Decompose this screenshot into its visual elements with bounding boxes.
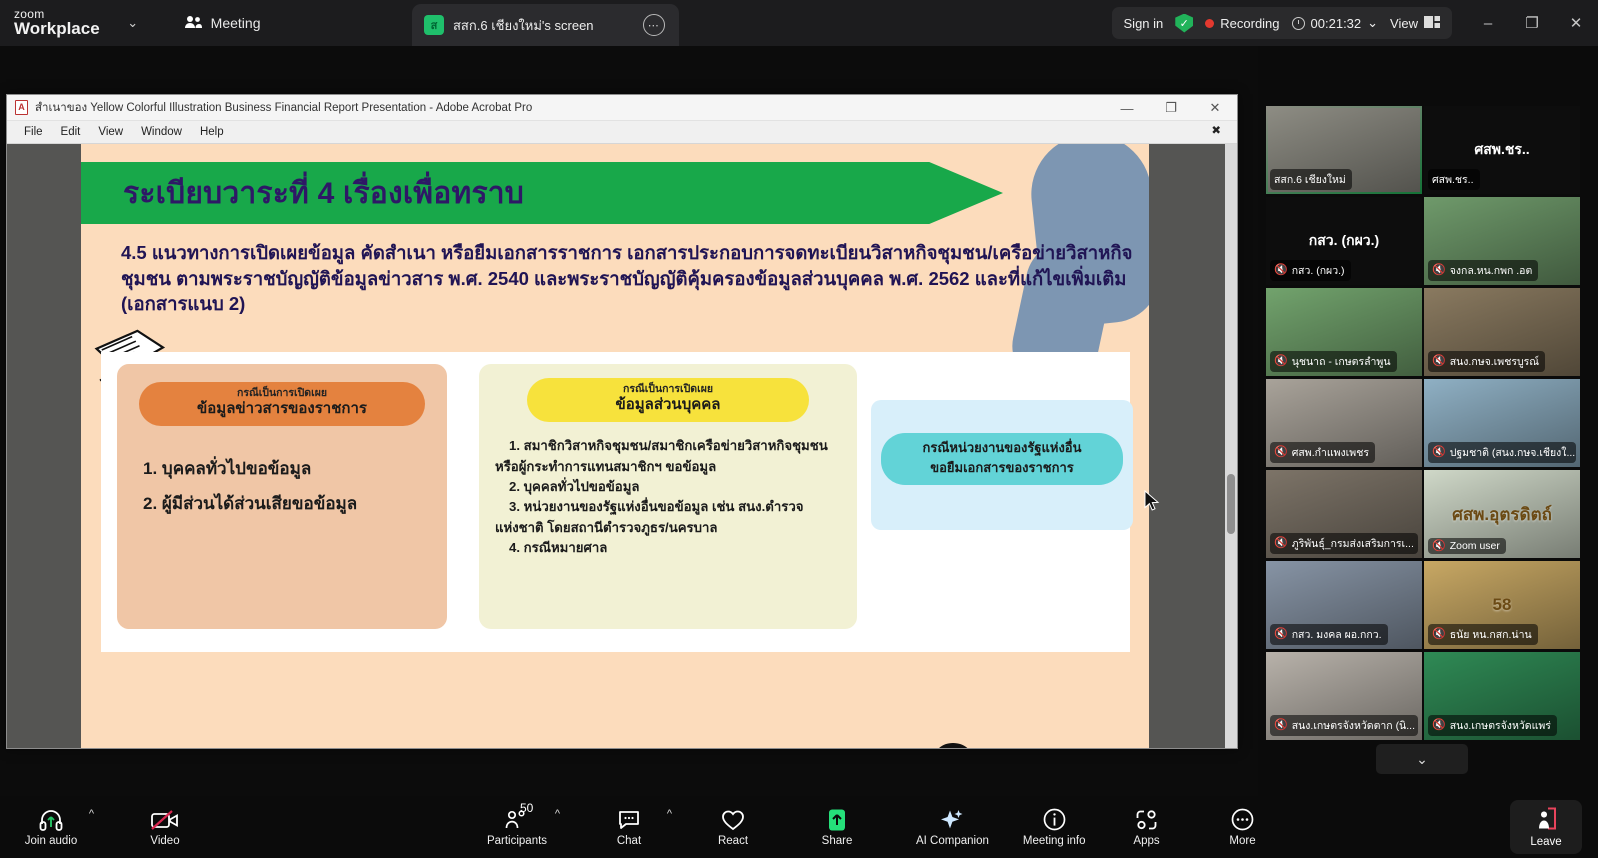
box-a-list: 1. บุคคลทั่วไปขอข้อมูล 2. ผู้มีส่วนได้ส่… bbox=[143, 452, 447, 522]
participant-name: จงกล.หน.กพก .อต bbox=[1450, 262, 1533, 279]
participant-name-badge: 🔇จงกล.หน.กพก .อต bbox=[1428, 260, 1538, 281]
toolbar-react[interactable]: React bbox=[702, 798, 764, 856]
acrobat-title-bar: A สำเนาของ Yellow Colorful Illustration … bbox=[7, 95, 1237, 121]
acrobat-minimize-button[interactable]: — bbox=[1105, 95, 1149, 121]
toolbar-meeting-info-label: Meeting info bbox=[1023, 835, 1086, 847]
toolbar-join-audio-label: Join audio bbox=[25, 835, 77, 847]
toolbar-share[interactable]: Share bbox=[806, 798, 868, 856]
pdf-scrollbar[interactable] bbox=[1225, 144, 1237, 748]
mic-muted-icon: 🔇 bbox=[1274, 356, 1288, 367]
participant-name-badge: 🔇สนง.เกษตรจังหวัดตาก (นิ... bbox=[1270, 715, 1418, 736]
acrobat-title: สำเนาของ Yellow Colorful Illustration Bu… bbox=[35, 99, 532, 117]
video-tile[interactable]: สสก.6 เชียงใหม่ bbox=[1266, 106, 1422, 194]
case-box-government-info: กรณีเป็นการเปิดเผย ข้อมูลข่าวสารของราชกา… bbox=[117, 364, 447, 629]
video-tile[interactable]: 🔇กสว. มงคล ผอ.กกว. bbox=[1266, 561, 1422, 649]
box-b-pill-big: ข้อมูลส่วนบุคคล bbox=[537, 396, 799, 414]
video-tile[interactable]: ศสพ.อุตรดิตถ์🔇Zoom user bbox=[1424, 470, 1580, 558]
participant-name-badge: 🔇สนง.กษจ.เพชรบูรณ์ bbox=[1428, 351, 1545, 372]
box-a-pill-small: กรณีเป็นการเปิดเผย bbox=[149, 387, 415, 400]
video-off-icon bbox=[150, 808, 180, 832]
clock-icon bbox=[1292, 17, 1305, 30]
participant-name-badge: 🔇ปฐมชาติ (สนง.กษจ.เชียงใ... bbox=[1428, 442, 1576, 463]
participant-name: ศสพ.ชร.. bbox=[1432, 171, 1474, 188]
shared-screen-tab[interactable]: ส สสก.6 เชียงใหม่'s screen ⋯ bbox=[412, 4, 679, 46]
apps-icon bbox=[1135, 808, 1158, 832]
leave-button-label: Leave bbox=[1530, 836, 1561, 848]
participant-name: สนง.กษจ.เพชรบูรณ์ bbox=[1450, 353, 1539, 370]
zoom-logo: zoom Workplace bbox=[14, 8, 100, 38]
chevron-down-icon[interactable]: ⌄ bbox=[122, 15, 144, 31]
participant-name: กสว. มงคล ผอ.กกว. bbox=[1292, 626, 1382, 643]
mic-muted-icon: 🔇 bbox=[1432, 720, 1446, 731]
box-c-line-1: กรณีหน่วยงานของรัฐแห่งอื่น bbox=[891, 438, 1113, 458]
timer-chevron-down-icon[interactable]: ⌄ bbox=[1367, 15, 1378, 31]
mic-muted-icon: 🔇 bbox=[1274, 538, 1288, 549]
recording-indicator[interactable]: Recording bbox=[1205, 16, 1279, 31]
participant-name-badge: 🔇ศสพ.กำแพงเพชร bbox=[1270, 442, 1375, 463]
strip-collapse-chevron-down-icon[interactable]: ⌄ bbox=[1376, 744, 1468, 774]
toolbar-video[interactable]: Video bbox=[134, 798, 196, 856]
participant-name: สสก.6 เชียงใหม่ bbox=[1274, 171, 1346, 188]
participant-name: Zoom user bbox=[1450, 540, 1500, 552]
acrobat-menu-bar: File Edit View Window Help ✖ bbox=[7, 121, 1237, 144]
maximize-button[interactable]: ❐ bbox=[1510, 0, 1554, 46]
headset-icon bbox=[39, 808, 63, 832]
zoom-top-bar: zoom Workplace ⌄ Meeting ส สสก.6 เชียงให… bbox=[0, 0, 1598, 46]
mic-muted-icon: 🔇 bbox=[1432, 356, 1446, 367]
sparkle-icon bbox=[940, 808, 964, 832]
view-label: View bbox=[1390, 16, 1418, 31]
box-b-item-3b: แห่งชาติ โดยสถานีตำรวจภูธร/นครบาล bbox=[495, 518, 843, 538]
document-tab-close-icon[interactable]: ✖ bbox=[1203, 124, 1229, 140]
toolbar-join-audio[interactable]: ^ Join audio bbox=[20, 798, 82, 856]
mic-muted-icon: 🔇 bbox=[1274, 447, 1288, 458]
slide-heading: ระเบียบวาระที่ 4 เรื่องเพื่อทราบ bbox=[123, 170, 524, 217]
box-b-item-2: 2. บุคคลทั่วไปขอข้อมูล bbox=[495, 477, 843, 497]
toolbar-ai-companion[interactable]: AI Companion bbox=[916, 798, 989, 856]
mic-muted-icon: 🔇 bbox=[1274, 720, 1288, 731]
box-b-pill: กรณีเป็นการเปิดเผย ข้อมูลส่วนบุคคล bbox=[527, 378, 809, 422]
toolbar-react-label: React bbox=[718, 835, 748, 847]
more-dots-icon[interactable]: ⋯ bbox=[643, 14, 665, 36]
video-tile[interactable]: 🔇สนง.เกษตรจังหวัดตาก (นิ... bbox=[1266, 652, 1422, 740]
box-b-item-1: 1. สมาชิกวิสาหกิจชุมชน/สมาชิกเครือข่ายวิ… bbox=[495, 436, 843, 456]
mic-muted-icon: 🔇 bbox=[1432, 541, 1446, 552]
acrobat-close-button[interactable]: ✕ bbox=[1193, 95, 1237, 121]
participant-name: สนง.เกษตรจังหวัดตาก (นิ... bbox=[1292, 717, 1415, 734]
shield-check-icon[interactable]: ✓ bbox=[1175, 14, 1193, 33]
toolbar-more[interactable]: More bbox=[1212, 798, 1274, 856]
participant-name-badge: ศสพ.ชร.. bbox=[1428, 169, 1480, 190]
heart-icon bbox=[721, 808, 745, 832]
video-tile[interactable]: 🔇สนง.กษจ.เพชรบูรณ์ bbox=[1424, 288, 1580, 376]
box-a-item-1: 1. บุคคลทั่วไปขอข้อมูล bbox=[143, 452, 447, 487]
slide-content-card: กรณีเป็นการเปิดเผย ข้อมูลข่าวสารของราชกา… bbox=[101, 352, 1130, 652]
video-tile[interactable]: 🔇สนง.เกษตรจังหวัดแพร่ bbox=[1424, 652, 1580, 740]
participant-name-badge: 🔇สนง.เกษตรจังหวัดแพร่ bbox=[1428, 715, 1557, 736]
video-tile[interactable]: 🔇จงกล.หน.กพก .อต bbox=[1424, 197, 1580, 285]
toolbar-chat-label: Chat bbox=[617, 835, 641, 847]
video-tile-grid: สสก.6 เชียงใหม่ศสพ.ชร..ศสพ.ชร..กสว. (กผว… bbox=[1266, 106, 1590, 743]
toolbar-video-label: Video bbox=[150, 835, 179, 847]
video-tile[interactable]: กสว. (กผว.)🔇กสว. (กผว.) bbox=[1266, 197, 1422, 285]
participant-name: ภูริพันธุ์_กรมส่งเสริมการเ... bbox=[1292, 535, 1414, 552]
participant-name-badge: 🔇กสว. (กผว.) bbox=[1270, 260, 1351, 281]
more-icon bbox=[1231, 808, 1254, 832]
video-tile[interactable]: 🔇ศสพ.กำแพงเพชร bbox=[1266, 379, 1422, 467]
pdf-page: ระเบียบวาระที่ 4 เรื่องเพื่อทราบ 4.5 แนว… bbox=[81, 144, 1149, 748]
toolbar-chat[interactable]: ^ Chat bbox=[598, 798, 660, 856]
participants-chevron-up-icon[interactable]: ^ bbox=[555, 808, 560, 820]
toolbar-share-label: Share bbox=[822, 835, 853, 847]
mic-muted-icon: 🔇 bbox=[1274, 265, 1288, 276]
box-a-pill-big: ข้อมูลข่าวสารของราชการ bbox=[149, 400, 415, 418]
video-tile[interactable]: 🔇ปฐมชาติ (สนง.กษจ.เชียงใ... bbox=[1424, 379, 1580, 467]
top-right-controls: Sign in ✓ Recording 00:21:32 ⌄ View bbox=[1112, 0, 1598, 46]
pdf-viewport: ระเบียบวาระที่ 4 เรื่องเพื่อทราบ 4.5 แนว… bbox=[7, 144, 1237, 748]
people-icon bbox=[184, 15, 203, 32]
leave-door-icon bbox=[1534, 807, 1558, 833]
menu-window[interactable]: Window bbox=[133, 124, 190, 140]
slide-title-banner: ระเบียบวาระที่ 4 เรื่องเพื่อทราบ bbox=[81, 162, 1003, 224]
zoom-meeting-window: zoom Workplace ⌄ Meeting ส สสก.6 เชียงให… bbox=[0, 0, 1598, 858]
chat-icon bbox=[617, 808, 641, 832]
toolbar-more-label: More bbox=[1229, 835, 1255, 847]
video-tile[interactable]: 🔇นุชนาถ - เกษตรลำพูน bbox=[1266, 288, 1422, 376]
share-avatar: ส bbox=[424, 15, 444, 35]
leave-button[interactable]: Leave bbox=[1510, 800, 1582, 854]
toolbar-ai-companion-label: AI Companion bbox=[916, 835, 989, 847]
participant-name: นุชนาถ - เกษตรลำพูน bbox=[1292, 353, 1391, 370]
slide-subheading: 4.5 แนวทางการเปิดเผยข้อมูล คัดสำเนา หรือ… bbox=[121, 240, 1136, 317]
participant-video-strip: สสก.6 เชียงใหม่ศสพ.ชร..ศสพ.ชร..กสว. (กผว… bbox=[1258, 46, 1598, 796]
video-tile[interactable]: 🔇ภูริพันธุ์_กรมส่งเสริมการเ... bbox=[1266, 470, 1422, 558]
box-b-item-4: 4. กรณีหมายศาล bbox=[495, 538, 843, 558]
menu-edit[interactable]: Edit bbox=[53, 124, 89, 140]
toolbar-participants-label: Participants bbox=[487, 835, 547, 847]
box-a-item-2: 2. ผู้มีส่วนได้ส่วนเสียขอข้อมูล bbox=[143, 487, 447, 522]
meeting-toolbar: ^ Join audio Video 50 ^ bbox=[0, 796, 1598, 858]
participant-name-badge: 🔇กสว. มงคล ผอ.กกว. bbox=[1270, 624, 1388, 645]
minimize-button[interactable]: – bbox=[1466, 0, 1510, 46]
video-tile[interactable]: 58🔇ธนัย หน.กสก.น่าน bbox=[1424, 561, 1580, 649]
box-c-line-2: ขอยืมเอกสารของราชการ bbox=[891, 458, 1113, 478]
toolbar-participants[interactable]: 50 ^ Participants bbox=[486, 798, 548, 856]
case-box-other-agency: กรณีหน่วยงานของรัฐแห่งอื่น ขอยืมเอกสารขอ… bbox=[871, 400, 1133, 530]
meeting-tab-label: Meeting bbox=[211, 15, 261, 31]
menu-file[interactable]: File bbox=[16, 124, 51, 140]
participant-name: กสว. (กผว.) bbox=[1292, 262, 1345, 279]
participants-count: 50 bbox=[520, 801, 533, 815]
participant-name: ศสพ.กำแพงเพชร bbox=[1292, 444, 1369, 461]
layout-icon bbox=[1424, 16, 1440, 31]
chat-chevron-up-icon[interactable]: ^ bbox=[667, 808, 672, 820]
toolbar-apps[interactable]: Apps bbox=[1116, 798, 1178, 856]
timer-value: 00:21:32 bbox=[1311, 16, 1362, 31]
shared-screen-label: สสก.6 เชียงใหม่'s screen bbox=[453, 15, 594, 36]
sign-in-button[interactable]: Sign in bbox=[1124, 16, 1164, 31]
box-b-item-3: 3. หน่วยงานของรัฐแห่งอื่นขอข้อมูล เช่น ส… bbox=[495, 497, 843, 517]
participant-name-badge: 🔇ภูริพันธุ์_กรมส่งเสริมการเ... bbox=[1270, 533, 1418, 554]
participant-name: ปฐมชาติ (สนง.กษจ.เชียงใ... bbox=[1450, 444, 1576, 461]
participant-name-badge: 🔇นุชนาถ - เกษตรลำพูน bbox=[1270, 351, 1397, 372]
menu-view[interactable]: View bbox=[90, 124, 131, 140]
record-dot-icon bbox=[1205, 19, 1214, 28]
close-button[interactable]: ✕ bbox=[1554, 0, 1598, 46]
info-icon bbox=[1043, 808, 1066, 832]
participant-name: สนง.เกษตรจังหวัดแพร่ bbox=[1450, 717, 1551, 734]
sign-in-label: Sign in bbox=[1124, 16, 1164, 31]
meeting-timer[interactable]: 00:21:32 ⌄ bbox=[1292, 15, 1379, 31]
people-illustration bbox=[861, 707, 1001, 748]
mouse-cursor bbox=[1144, 490, 1162, 514]
box-b-item-1b: หรือผู้กระทำการแทนสมาชิกฯ ขอข้อมูล bbox=[495, 457, 843, 477]
box-b-list: 1. สมาชิกวิสาหกิจชุมชน/สมาชิกเครือข่ายวิ… bbox=[495, 436, 843, 559]
pdf-icon: A bbox=[15, 100, 28, 115]
status-group: Sign in ✓ Recording 00:21:32 ⌄ View bbox=[1112, 7, 1452, 39]
case-box-personal-data: กรณีเป็นการเปิดเผย ข้อมูลส่วนบุคคล 1. สม… bbox=[479, 364, 857, 629]
toolbar-meeting-info[interactable]: Meeting info bbox=[1023, 798, 1086, 856]
toolbar-apps-label: Apps bbox=[1133, 835, 1159, 847]
participant-name: ธนัย หน.กสก.น่าน bbox=[1450, 626, 1532, 643]
brand-line-2: Workplace bbox=[14, 20, 100, 38]
box-b-pill-small: กรณีเป็นการเปิดเผย bbox=[537, 383, 799, 396]
pdf-scrollbar-thumb[interactable] bbox=[1227, 474, 1235, 534]
recording-label: Recording bbox=[1220, 16, 1279, 31]
video-tile[interactable]: ศสพ.ชร..ศสพ.ชร.. bbox=[1424, 106, 1580, 194]
box-c-pill: กรณีหน่วยงานของรัฐแห่งอื่น ขอยืมเอกสารขอ… bbox=[881, 433, 1123, 485]
audio-chevron-up-icon[interactable]: ^ bbox=[89, 808, 94, 820]
participant-name-badge: สสก.6 เชียงใหม่ bbox=[1270, 169, 1352, 190]
view-button[interactable]: View bbox=[1390, 16, 1440, 31]
meeting-tab[interactable]: Meeting bbox=[174, 9, 271, 38]
mic-muted-icon: 🔇 bbox=[1432, 629, 1446, 640]
menu-help[interactable]: Help bbox=[192, 124, 232, 140]
acrobat-window: A สำเนาของ Yellow Colorful Illustration … bbox=[6, 94, 1238, 749]
participant-name-badge: 🔇ธนัย หน.กสก.น่าน bbox=[1428, 624, 1538, 645]
share-screen-icon bbox=[825, 808, 849, 832]
box-a-pill: กรณีเป็นการเปิดเผย ข้อมูลข่าวสารของราชกา… bbox=[139, 382, 425, 426]
participant-name-badge: 🔇Zoom user bbox=[1428, 538, 1506, 554]
acrobat-maximize-button[interactable]: ❐ bbox=[1149, 95, 1193, 121]
mic-muted-icon: 🔇 bbox=[1432, 447, 1446, 458]
mic-muted-icon: 🔇 bbox=[1432, 265, 1446, 276]
mic-muted-icon: 🔇 bbox=[1274, 629, 1288, 640]
window-controls: – ❐ ✕ bbox=[1466, 0, 1598, 46]
